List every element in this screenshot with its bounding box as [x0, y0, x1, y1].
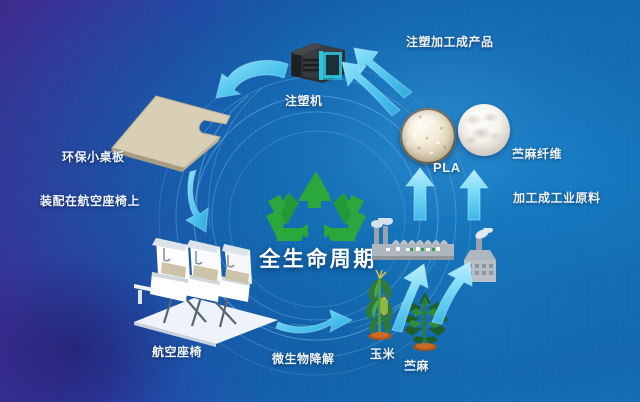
arrow-factory-to-pla [406, 168, 434, 220]
label-aircraft-seat: 航空座椅 [152, 343, 202, 360]
arrow-pla-to-machine [342, 62, 400, 116]
tray-table-icon [108, 90, 236, 176]
ramie-plant-icon [398, 290, 452, 356]
injection-molding-machine-icon [283, 40, 347, 86]
pla-rim [400, 108, 456, 164]
pla-pellets-photo [400, 108, 456, 164]
label-corn: 玉米 [370, 345, 395, 362]
label-tray-table: 环保小桌板 [62, 148, 125, 165]
processing-plant-icon [452, 228, 508, 286]
fiber-texture [458, 104, 510, 156]
label-injection-machine: 注塑机 [285, 92, 323, 109]
aircraft-seat-icon [128, 226, 280, 348]
arrow-tray-to-seat [186, 170, 208, 232]
arrow-seat-to-degradation [276, 310, 352, 333]
corn-plant-icon [358, 270, 402, 342]
label-ramie-fiber: 苎麻纤维 [512, 145, 562, 162]
arrow-plant-to-fiber [460, 170, 488, 220]
label-to-industrial-material: 加工成工业原料 [513, 189, 601, 206]
label-pla: PLA [433, 160, 461, 175]
label-assemble-on-seat: 装配在航空座椅上 [40, 192, 140, 209]
arrow-fiber-to-machine [354, 48, 412, 98]
label-microbial-degradation: 微生物降解 [272, 350, 335, 367]
lifecycle-infographic: 全生命周期 注塑机 PLA 苎麻纤维 环保小桌板 [0, 0, 640, 402]
ramie-fiber-photo [458, 104, 510, 156]
label-ramie: 苎麻 [404, 357, 429, 374]
factory-icon [366, 218, 462, 266]
label-molding-to-product: 注塑加工成产品 [406, 33, 494, 50]
